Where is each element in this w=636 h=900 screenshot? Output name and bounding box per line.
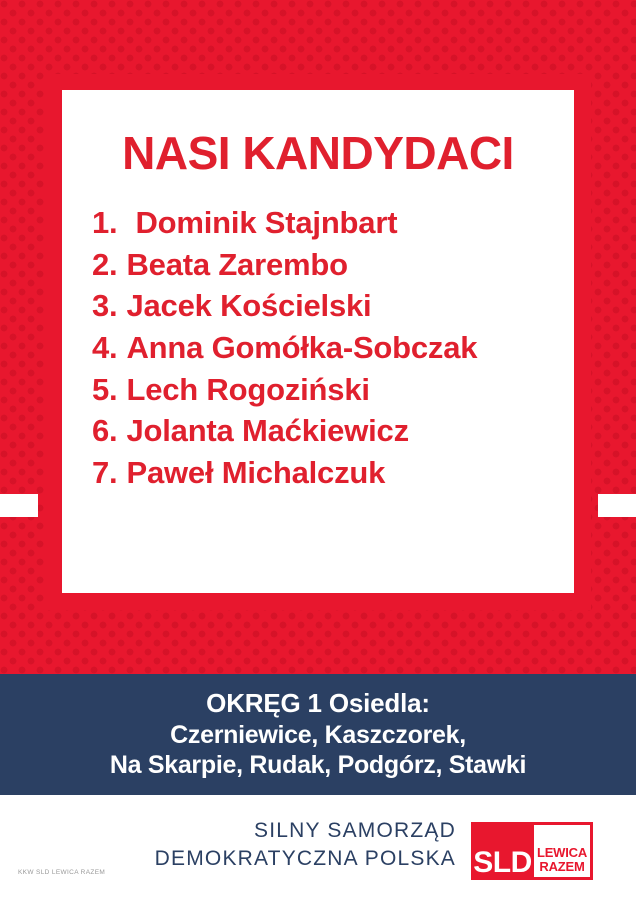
sld-logo-sub-line-2: RAZEM	[539, 860, 584, 874]
candidate-name: Anna Gomółka-Sobczak	[126, 327, 477, 369]
left-edge-notch	[0, 494, 38, 517]
list-item: 3. Jacek Kościelski	[92, 285, 556, 327]
candidate-number: 2.	[92, 244, 117, 286]
sld-logo-wordmark: SLD	[473, 848, 532, 878]
sld-logo-main-block: SLD	[471, 822, 534, 880]
campaign-poster: NASI KANDYDACI 1. Dominik Stajnbart 2. B…	[0, 0, 636, 900]
slogan: SILNY SAMORZĄD DEMOKRATYCZNA POLSKA	[138, 817, 456, 873]
candidate-number: 7.	[92, 452, 117, 494]
candidate-name: Lech Rogoziński	[126, 369, 369, 411]
candidate-number: 3.	[92, 285, 117, 327]
candidate-name: Dominik Stajnbart	[135, 202, 397, 244]
district-neighbourhoods-line-1: Czerniewice, Kaszczorek,	[170, 720, 466, 751]
candidate-number: 4.	[92, 327, 117, 369]
district-heading: OKRĘG 1 Osiedla:	[206, 688, 430, 720]
candidate-name: Paweł Michalczuk	[126, 452, 385, 494]
list-item: 6. Jolanta Maćkiewicz	[92, 410, 556, 452]
slogan-line-2: DEMOKRATYCZNA POLSKA	[138, 845, 456, 873]
candidate-list: 1. Dominik Stajnbart 2. Beata Zarembo 3.…	[80, 202, 556, 494]
page-title: NASI KANDYDACI	[80, 130, 556, 176]
right-edge-notch	[598, 494, 636, 517]
list-item: 2. Beata Zarembo	[92, 244, 556, 286]
candidates-card: NASI KANDYDACI 1. Dominik Stajnbart 2. B…	[62, 90, 574, 593]
list-item: 5. Lech Rogoziński	[92, 369, 556, 411]
election-committee-note: KKW SLD LEWICA RAZEM	[18, 869, 105, 876]
district-band: OKRĘG 1 Osiedla: Czerniewice, Kaszczorek…	[0, 674, 636, 795]
list-item: 1. Dominik Stajnbart	[92, 202, 556, 244]
candidate-name: Beata Zarembo	[126, 244, 347, 286]
candidate-name: Jacek Kościelski	[126, 285, 371, 327]
candidate-number: 5.	[92, 369, 117, 411]
slogan-line-1: SILNY SAMORZĄD	[138, 817, 456, 845]
sld-logo-sub-line-1: LEWICA	[537, 846, 587, 860]
sld-party-logo: SLD LEWICA RAZEM	[471, 822, 593, 880]
candidate-name: Jolanta Maćkiewicz	[126, 410, 408, 452]
candidate-number: 6.	[92, 410, 117, 452]
sld-logo-sub-block: LEWICA RAZEM	[534, 825, 590, 877]
district-neighbourhoods-line-2: Na Skarpie, Rudak, Podgórz, Stawki	[110, 750, 526, 781]
candidate-number: 1.	[92, 202, 117, 244]
list-item: 7. Paweł Michalczuk	[92, 452, 556, 494]
list-item: 4. Anna Gomółka-Sobczak	[92, 327, 556, 369]
